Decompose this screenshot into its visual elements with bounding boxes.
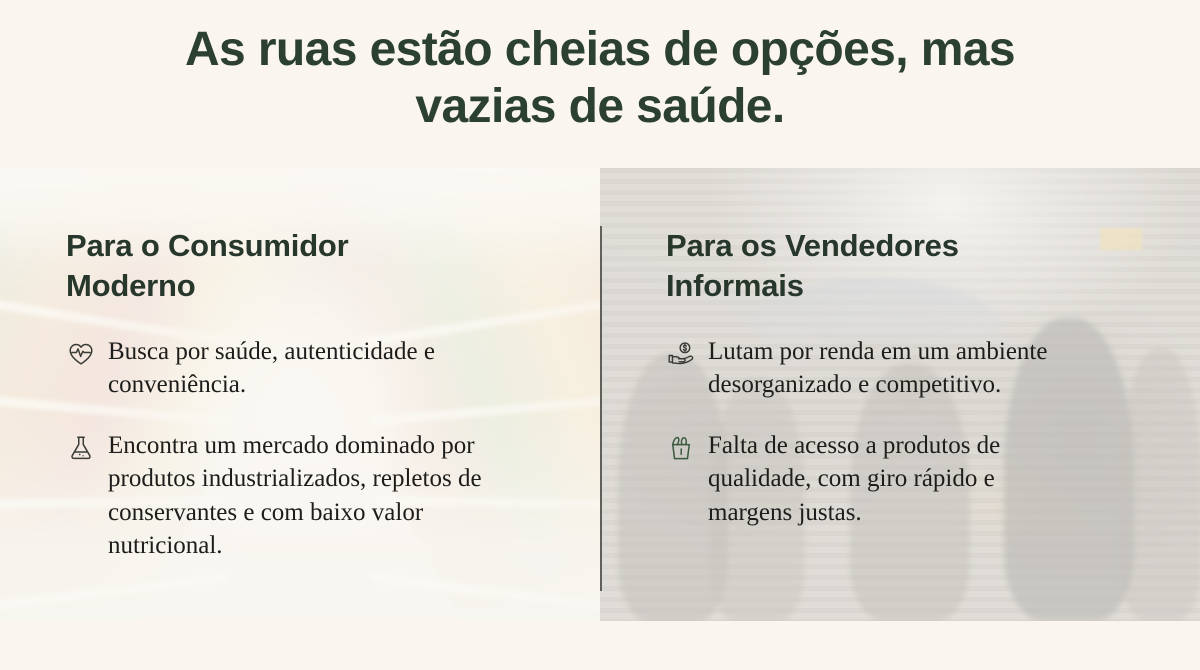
panel-content-vendedores: Para os Vendedores Informais: [600, 168, 1200, 621]
flask-icon: [66, 433, 96, 463]
heart-pulse-icon: [66, 339, 96, 369]
shopping-basket-icon: [666, 433, 696, 463]
slide-root: As ruas estão cheias de opções, mas vazi…: [0, 0, 1200, 670]
bullet-text: Encontra um mercado dominado por produto…: [108, 429, 500, 562]
list-item: Falta de acesso a produtos de qualidade,…: [666, 429, 1090, 529]
list-item: Lutam por renda em um ambiente desorgani…: [666, 335, 1090, 402]
bullet-list-consumidor: Busca por saúde, autenticidade e conveni…: [66, 335, 548, 563]
slide-header: As ruas estão cheias de opções, mas vazi…: [0, 22, 1200, 135]
bullet-text: Lutam por renda em um ambiente desorgani…: [708, 335, 1080, 402]
bullet-list-vendedores: Lutam por renda em um ambiente desorgani…: [666, 335, 1090, 529]
panel-vendedores: Para os Vendedores Informais: [600, 168, 1200, 621]
panel-divider: [600, 226, 602, 591]
panel-title-consumidor: Para o Consumidor Moderno: [66, 226, 466, 307]
panel-band: Para o Consumidor Moderno Busca por saúd…: [0, 168, 1200, 621]
bullet-text: Busca por saúde, autenticidade e conveni…: [108, 335, 500, 402]
panel-title-vendedores: Para os Vendedores Informais: [666, 226, 1066, 307]
list-item: Busca por saúde, autenticidade e conveni…: [66, 335, 548, 402]
panel-content-consumidor: Para o Consumidor Moderno Busca por saúd…: [0, 168, 600, 621]
hand-holding-money-icon: [666, 339, 696, 369]
page-title: As ruas estão cheias de opções, mas vazi…: [0, 22, 1200, 135]
bullet-text: Falta de acesso a produtos de qualidade,…: [708, 429, 1080, 529]
panel-consumidor: Para o Consumidor Moderno Busca por saúd…: [0, 168, 600, 621]
list-item: Encontra um mercado dominado por produto…: [66, 429, 548, 562]
